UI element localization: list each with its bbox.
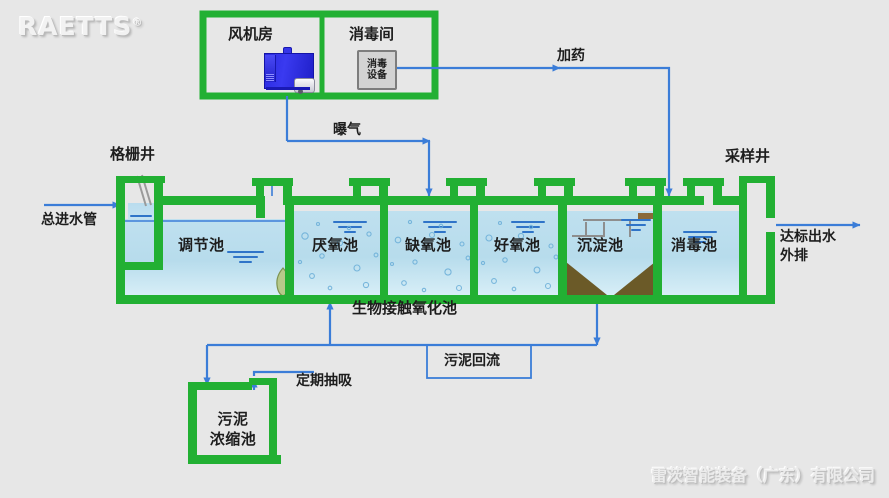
regulating-tank-water	[122, 219, 285, 295]
sedimentation-weir	[638, 213, 655, 219]
brand-watermark: RAETTS®	[18, 12, 143, 41]
tank-label-anaerobic: 厌氧池	[312, 237, 359, 255]
thickener-label-line1: 污泥	[196, 410, 270, 430]
flow-label-dosing: 加药	[557, 48, 585, 65]
flow-dosing-drop	[559, 68, 669, 196]
tank-label-regulating: 调节池	[178, 237, 225, 255]
tank-label-sludge-thickener: 污泥 浓缩池	[196, 410, 270, 449]
tank-label-aerobic: 好氧池	[494, 237, 541, 255]
blower-vent	[266, 74, 274, 81]
blower-feet	[266, 87, 310, 90]
brand-name: RAETTS	[18, 12, 132, 41]
sampling-well-outlet	[766, 218, 776, 232]
grille-well-label: 格栅井	[110, 146, 155, 164]
disinfection-room-label: 消毒间	[349, 26, 394, 44]
disinfection-equipment-box: 消毒 设备	[357, 50, 397, 90]
biological-oxidation-group-label: 生物接触氧化池	[352, 300, 457, 318]
flow-label-sludge-return: 污泥回流	[444, 353, 500, 370]
flow-label-periodic-suction: 定期抽吸	[296, 373, 352, 390]
flow-label-compliant-discharge: 达标出水 外排	[780, 228, 836, 266]
discharge-label-line1: 达标出水	[780, 228, 836, 247]
thickener-label-line2: 浓缩池	[196, 430, 270, 450]
company-watermark: 雷茨智能装备（广东）有限公司	[651, 462, 875, 486]
tank-label-disinfection: 消毒池	[671, 237, 718, 255]
equipment-label-line2: 设备	[367, 70, 387, 82]
registered-mark: ®	[132, 18, 143, 29]
flow-label-main-inlet: 总进水管	[41, 212, 97, 229]
blower-motor	[294, 78, 315, 93]
tank-label-anoxic: 缺氧池	[405, 237, 452, 255]
process-diagram-canvas: RAETTS® 雷茨智能装备（广东）有限公司 风机房 消毒间 消毒 设备 格栅井…	[0, 0, 889, 498]
blower-unit-icon	[258, 45, 316, 93]
flow-label-aeration: 曝气	[333, 122, 361, 139]
sampling-well-label: 采样井	[725, 148, 770, 166]
equipment-label-line1: 消毒	[367, 59, 387, 71]
blower-room-label: 风机房	[228, 26, 273, 44]
tank-label-sedimentation: 沉淀池	[577, 237, 624, 255]
discharge-label-line2: 外排	[780, 247, 836, 266]
